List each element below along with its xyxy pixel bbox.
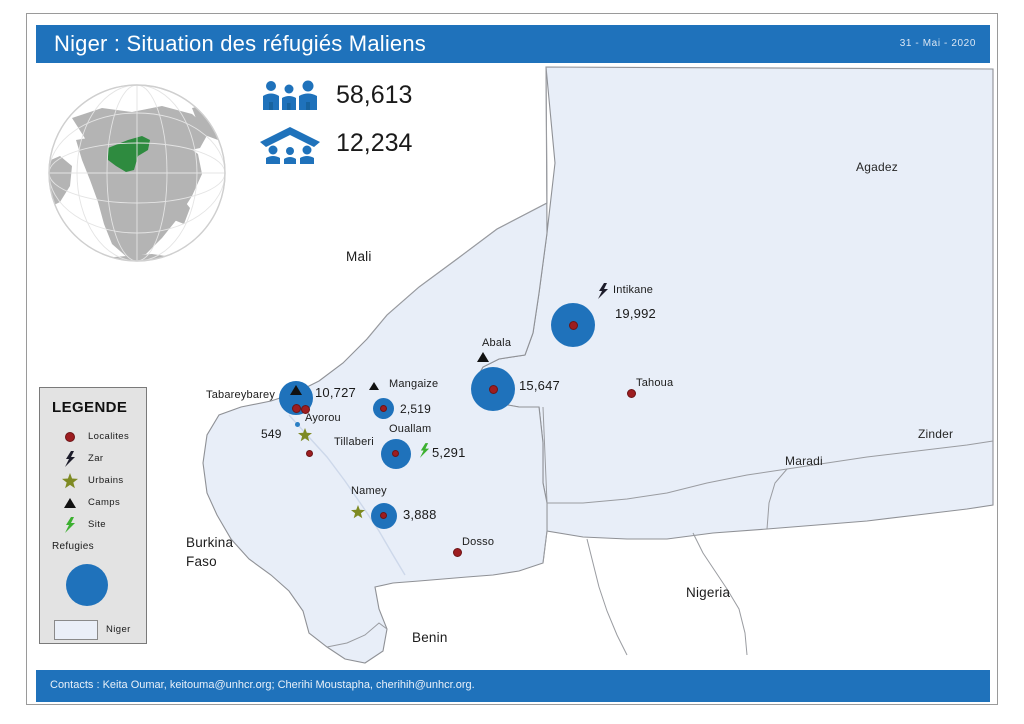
- report-date: 31 - Mai - 2020: [900, 38, 976, 49]
- site-label-abala: Abala: [482, 337, 511, 349]
- site-label-namey: Namey: [351, 485, 387, 497]
- dark-bolt-icon: [597, 283, 609, 299]
- green-bolt-icon: [62, 517, 78, 533]
- legend-label-refugies: Refugies: [52, 541, 94, 552]
- site-marker-mangaize[interactable]: Mangaize 2,519: [357, 377, 497, 437]
- stat-refugees: 58,613: [258, 78, 518, 122]
- page-title: Niger : Situation des réfugiés Maliens: [54, 31, 426, 57]
- site-value-namey: 3,888: [403, 507, 437, 522]
- stat-households-value: 12,234: [336, 129, 412, 158]
- people-group-icon: [258, 78, 322, 118]
- legend-item-zar[interactable]: Zar: [40, 451, 148, 469]
- country-label-burkina-faso: Burkina Faso: [186, 533, 233, 571]
- red-dot-icon: [380, 405, 387, 412]
- red-dot-icon: [627, 389, 636, 398]
- legend-item-site[interactable]: Site: [40, 517, 148, 535]
- olive-star-icon: [62, 473, 78, 489]
- site-value-abala: 15,647: [519, 378, 560, 393]
- red-dot-icon: [453, 548, 462, 557]
- black-triangle-icon: [477, 352, 489, 362]
- globe-inset: [42, 78, 232, 268]
- green-bolt-icon: [419, 443, 431, 459]
- site-label-intikane: Intikane: [613, 284, 653, 296]
- site-value-ayorou: 549: [261, 427, 282, 441]
- map-page: Niger : Situation des réfugiés Maliens 3…: [0, 0, 1024, 724]
- site-label-ayorou: Ayorou: [305, 412, 341, 424]
- site-value-intikane: 19,992: [615, 306, 656, 321]
- red-dot-icon: [380, 512, 387, 519]
- olive-star-icon: [351, 505, 365, 519]
- legend-label-camps: Camps: [88, 497, 120, 508]
- shelter-people-icon: [258, 126, 322, 166]
- dark-bolt-icon: [62, 451, 78, 467]
- country-label-nigeria: Nigeria: [686, 585, 730, 600]
- summary-stats: 58,613 12,234: [258, 78, 518, 170]
- black-triangle-icon: [290, 385, 302, 395]
- legend-label-niger: Niger: [106, 624, 131, 635]
- site-label-tabareybarey: Tabareybarey: [206, 389, 275, 401]
- legend-label-site: Site: [88, 519, 106, 530]
- site-value-mangaize: 2,519: [400, 402, 431, 416]
- red-dot-icon: [392, 450, 399, 457]
- blue-dot-icon: [295, 422, 300, 427]
- country-label-benin: Benin: [412, 630, 448, 645]
- header-bar: Niger : Situation des réfugiés Maliens 3…: [36, 25, 990, 63]
- black-triangle-icon: [369, 382, 379, 390]
- stat-households: 12,234: [258, 126, 518, 170]
- red-dot-icon: [569, 321, 578, 330]
- legend-item-urbains[interactable]: Urbains: [40, 473, 148, 491]
- legend-label-urbains: Urbains: [88, 475, 124, 486]
- footer-bar: Contacts : Keita Oumar, keitouma@unhcr.o…: [36, 670, 990, 702]
- site-value-tabareybarey: 10,727: [315, 385, 356, 400]
- country-swatch-icon: [54, 620, 98, 640]
- region-label-maradi: Maradi: [785, 454, 823, 468]
- region-label-zinder: Zinder: [918, 427, 953, 441]
- red-dot-icon: [62, 429, 78, 445]
- legend-panel: LEGENDE Localites Zar Urb: [39, 387, 147, 644]
- site-marker-namey[interactable]: Namey 3,888: [327, 483, 487, 543]
- site-label-mangaize: Mangaize: [389, 378, 438, 390]
- legend-label-localites: Localites: [88, 431, 129, 442]
- contacts-text: Contacts : Keita Oumar, keitouma@unhcr.o…: [50, 679, 475, 691]
- locality-label-tahoua: Tahoua: [636, 377, 673, 389]
- legend-label-zar: Zar: [88, 453, 103, 464]
- legend-item-camps[interactable]: Camps: [40, 495, 148, 513]
- country-label-mali: Mali: [346, 249, 372, 264]
- site-value-ouallam: 5,291: [432, 445, 466, 460]
- region-label-agadez: Agadez: [856, 160, 898, 174]
- stat-refugees-value: 58,613: [336, 81, 412, 110]
- black-triangle-icon: [62, 495, 78, 511]
- blue-circle-icon: [66, 564, 108, 606]
- legend-title: LEGENDE: [52, 399, 127, 416]
- legend-item-localites[interactable]: Localites: [40, 429, 148, 447]
- site-marker-ayorou[interactable]: Ayorou 549: [237, 403, 377, 453]
- globe-icon: [42, 78, 232, 268]
- olive-star-icon: [298, 428, 312, 442]
